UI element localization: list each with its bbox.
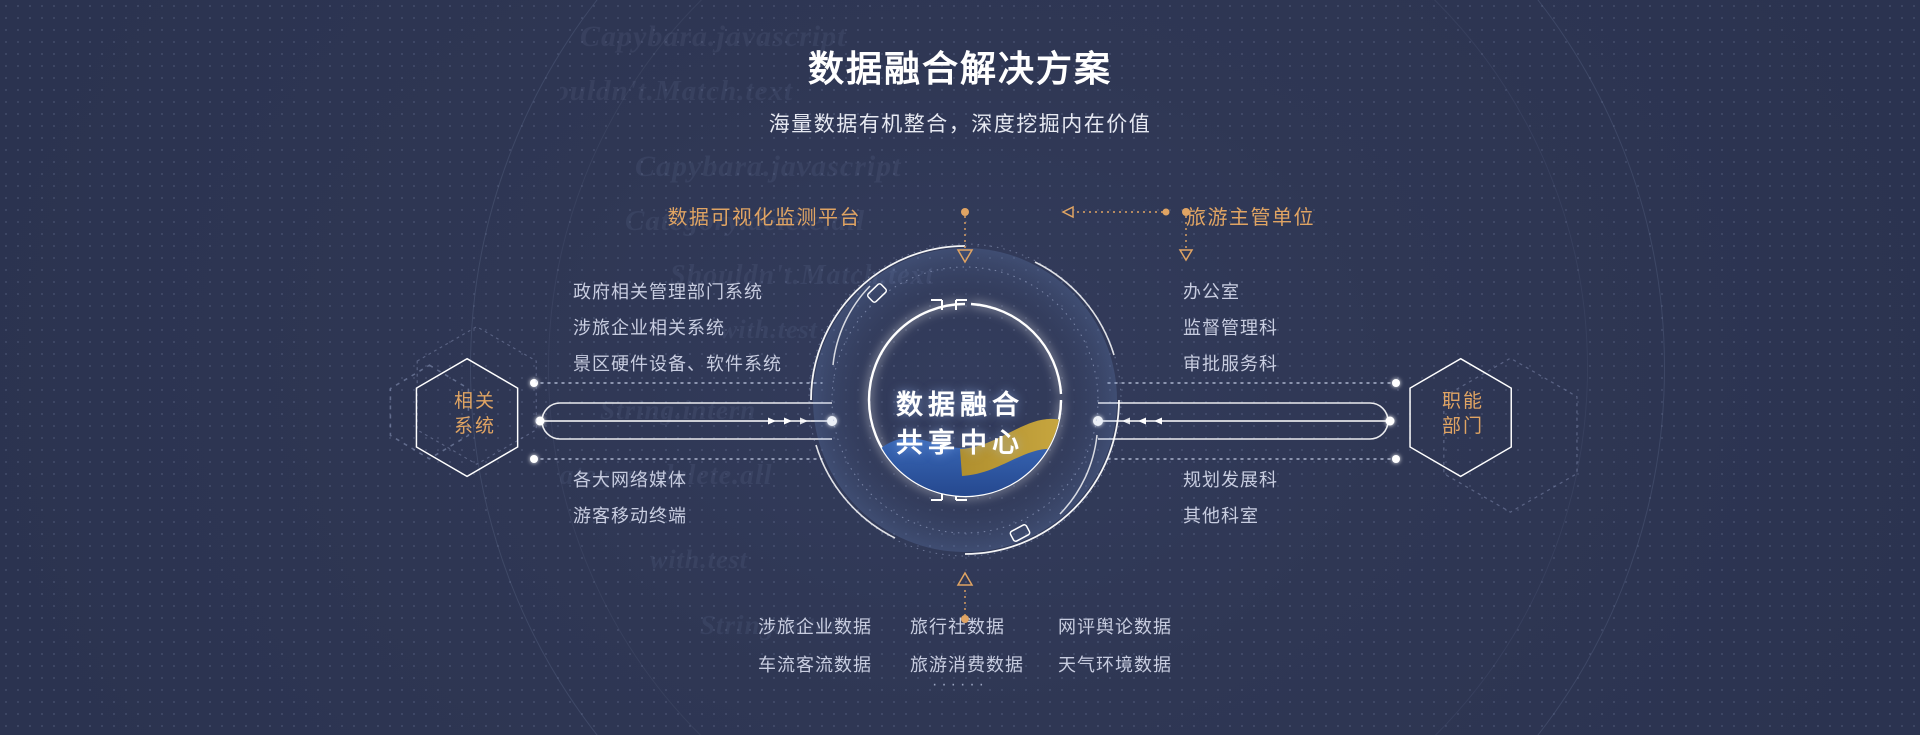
bottom-data-label[interactable]: 天气环境数据 bbox=[1058, 651, 1172, 677]
left-source-label[interactable]: 景区硬件设备、软件系统 bbox=[573, 350, 782, 376]
right-hexagon-line-2: 部门 bbox=[1418, 414, 1508, 439]
right-department-label[interactable]: 办公室 bbox=[1183, 278, 1240, 304]
right-hexagon-label: 职能 部门 bbox=[1418, 389, 1508, 439]
hub-rings bbox=[809, 244, 1121, 556]
page-title: 数据融合解决方案 bbox=[0, 40, 1920, 92]
left-source-label[interactable]: 涉旅企业相关系统 bbox=[573, 314, 725, 340]
bottom-data-label[interactable]: 车流客流数据 bbox=[758, 651, 872, 677]
right-department-label[interactable]: 规划发展科 bbox=[1183, 466, 1278, 492]
right-department-label[interactable]: 审批服务科 bbox=[1183, 350, 1278, 376]
bottom-data-label[interactable]: 网评舆论数据 bbox=[1058, 613, 1172, 639]
bottom-data-label[interactable]: 涉旅企业数据 bbox=[758, 613, 872, 639]
label-data-visualization-platform[interactable]: 数据可视化监测平台 bbox=[668, 201, 862, 230]
left-source-label[interactable]: 各大网络媒体 bbox=[573, 466, 687, 492]
left-connector-group bbox=[530, 379, 837, 463]
left-hexagon-label: 相关 系统 bbox=[430, 389, 520, 439]
right-department-label[interactable]: 其他科室 bbox=[1183, 502, 1259, 528]
bottom-ellipsis: ······ bbox=[0, 676, 1920, 694]
left-source-label[interactable]: 游客移动终端 bbox=[573, 502, 687, 528]
left-hexagon-line-1: 相关 bbox=[430, 389, 520, 414]
bottom-data-label[interactable]: 旅游消费数据 bbox=[910, 651, 1024, 677]
page-subtitle: 海量数据有机整合，深度挖掘内在价值 bbox=[0, 108, 1920, 138]
label-tourism-authority[interactable]: 旅游主管单位 bbox=[1186, 201, 1315, 230]
left-source-label[interactable]: 政府相关管理部门系统 bbox=[573, 278, 763, 304]
hero-banner: Capybara.javascript Shouldn't.Match.text… bbox=[0, 0, 1920, 735]
right-hexagon-line-1: 职能 bbox=[1418, 389, 1508, 414]
right-department-label[interactable]: 监督管理科 bbox=[1183, 314, 1278, 340]
right-connector-group bbox=[1093, 379, 1400, 463]
bottom-data-label[interactable]: 旅行社数据 bbox=[910, 613, 1005, 639]
left-hexagon-line-2: 系统 bbox=[430, 414, 520, 439]
